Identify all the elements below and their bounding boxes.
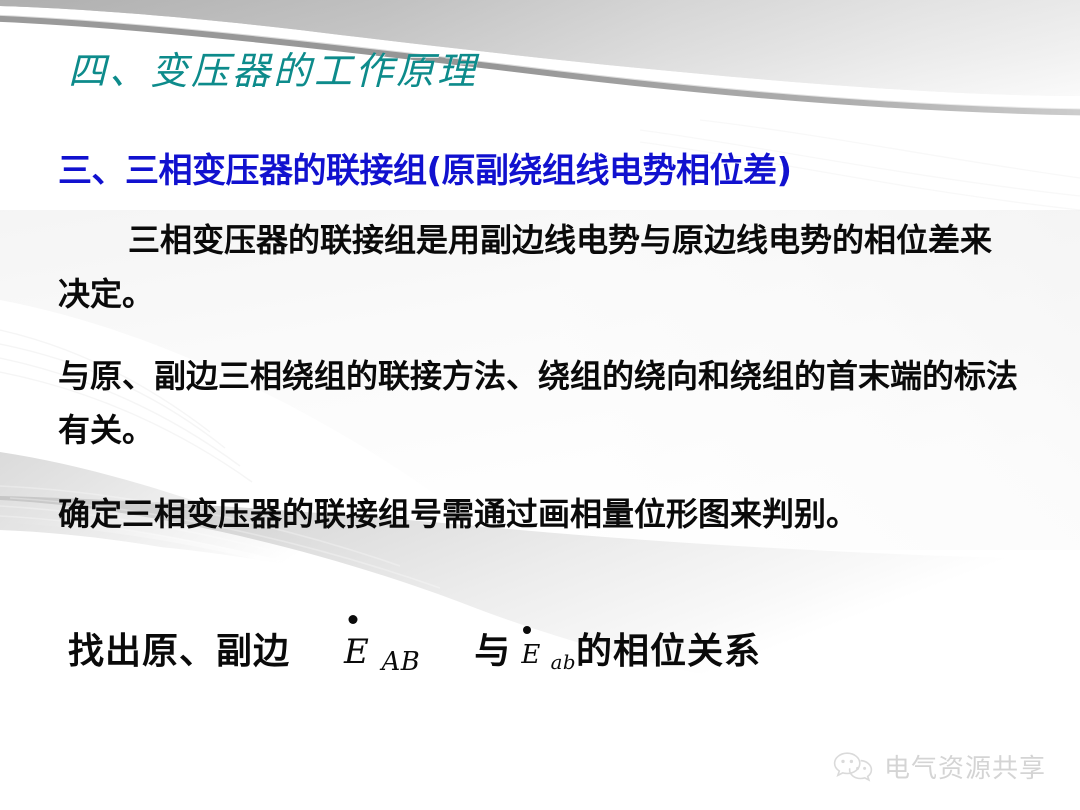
phasor-subscript: ab xyxy=(549,651,576,674)
phasor-dot-icon xyxy=(349,615,358,624)
phasor-symbol-primary: E AB xyxy=(344,635,420,676)
phasor-symbol-secondary: E ab xyxy=(521,642,576,672)
body-text-block: 三相变压器的联接组是用副边线电势与原边线电势的相位差来决定。 与原、副边三相绕组… xyxy=(58,213,1018,541)
page-title: 四、变压器的工作原理 xyxy=(68,40,478,95)
phasor-line-trail: 的相位关系 xyxy=(576,622,761,674)
body-paragraph: 确定三相变压器的联接组号需通过画相量位形图来判别。 xyxy=(58,487,1018,541)
body-paragraph: 三相变压器的联接组是用副边线电势与原边线电势的相位差来决定。 xyxy=(58,213,1018,321)
watermark: 电气资源共享 xyxy=(832,748,1046,785)
phasor-dot-icon xyxy=(523,626,531,634)
phasor-base-letter: E xyxy=(344,632,369,672)
phasor-question-line: 找出原、副边 E AB 与 E ab 的相位关系 xyxy=(68,622,761,676)
wechat-icon xyxy=(832,750,874,784)
body-paragraph: 与原、副边三相绕组的联接方法、绕组的绕向和绕组的首末端的标法有关。 xyxy=(58,349,1018,457)
phasor-base-letter: E xyxy=(521,640,540,670)
slide-canvas: 四、变压器的工作原理 三、三相变压器的联接组(原副绕组线电势相位差) 三相变压器… xyxy=(0,0,1080,810)
phasor-line-conjunction: 与 xyxy=(474,622,511,674)
phasor-line-lead: 找出原、副边 xyxy=(68,622,290,674)
watermark-text: 电气资源共享 xyxy=(884,748,1046,785)
phasor-subscript: AB xyxy=(380,647,421,677)
section-heading: 三、三相变压器的联接组(原副绕组线电势相位差) xyxy=(58,143,792,192)
